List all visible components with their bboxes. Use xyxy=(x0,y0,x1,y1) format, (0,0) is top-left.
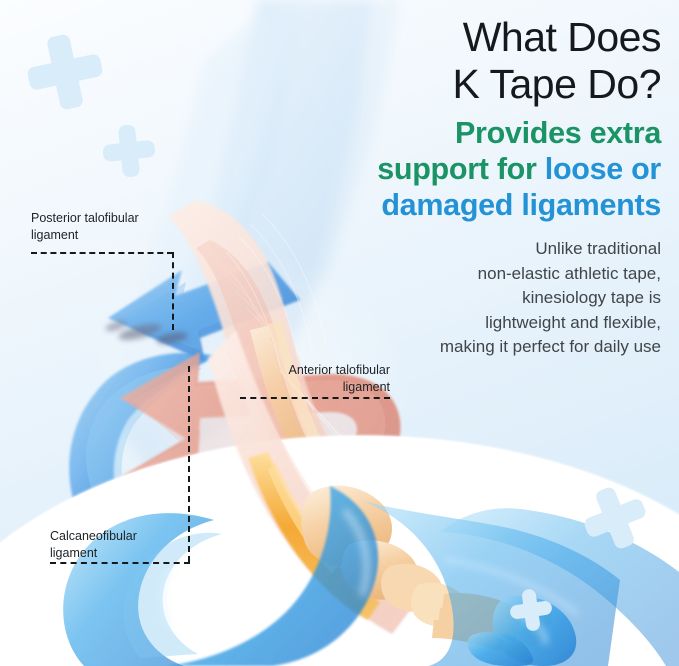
callout-calcaneofibular: Calcaneofibular ligament xyxy=(50,528,200,561)
callout-anterior-talofibular: Anterior talofibular ligament xyxy=(247,362,390,395)
subheadline: Provides extra support for loose or dama… xyxy=(361,116,661,223)
body-paragraph: Unlike traditional non-elastic athletic … xyxy=(361,237,661,359)
headline-text-column: What Does K Tape Do? Provides extra supp… xyxy=(361,14,661,360)
callout-posterior-talofibular: Posterior talofibular ligament xyxy=(31,210,181,243)
infographic-poster: What Does K Tape Do? Provides extra supp… xyxy=(0,0,679,666)
page-title: What Does K Tape Do? xyxy=(361,14,661,107)
